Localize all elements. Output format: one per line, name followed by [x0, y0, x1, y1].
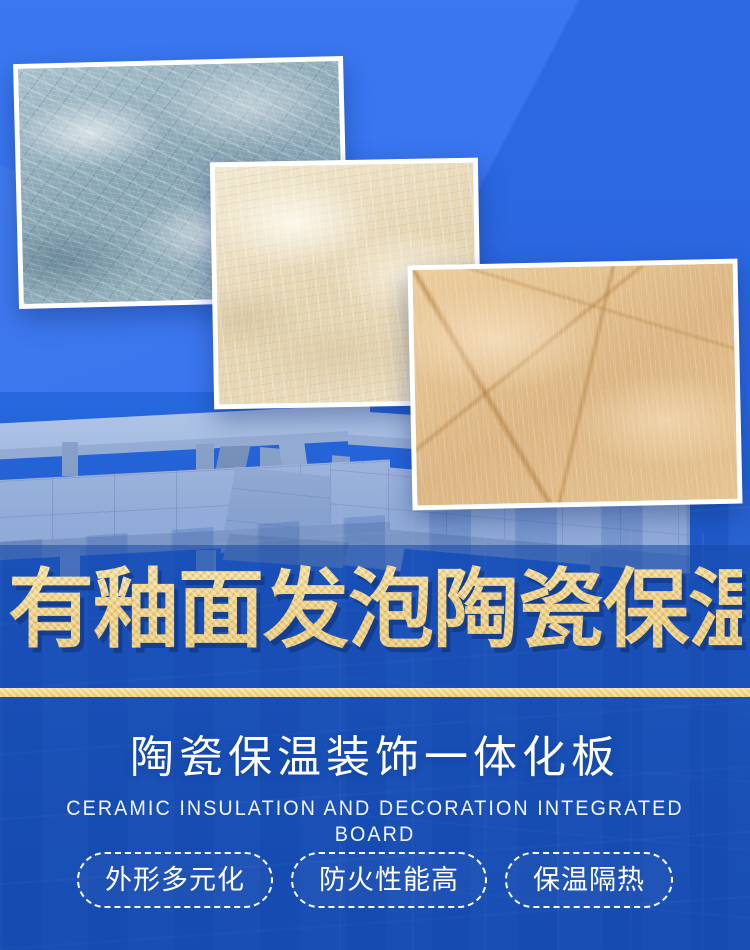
subtitle-chinese: 陶瓷保温装饰一体化板 [0, 730, 750, 786]
feature-pill[interactable]: 防火性能高 [291, 852, 487, 908]
feature-pill[interactable]: 外形多元化 [77, 852, 273, 908]
title-band: 有釉面发泡陶瓷保温板 [0, 548, 750, 696]
subtitle-english: CERAMIC INSULATION AND DECORATION INTEGR… [23, 796, 728, 848]
tan-marble-tile [413, 264, 738, 506]
product-banner: 有釉面发泡陶瓷保温板 陶瓷保温装饰一体化板 CERAMIC INSULATION… [0, 0, 750, 950]
feature-pill-list: 外形多元化 防火性能高 保温隔热 [0, 852, 750, 908]
tile-sample-3[interactable] [407, 259, 742, 511]
feature-pill[interactable]: 保温隔热 [505, 852, 673, 908]
main-title: 有釉面发泡陶瓷保温板 [8, 556, 742, 664]
gold-divider [0, 688, 750, 697]
